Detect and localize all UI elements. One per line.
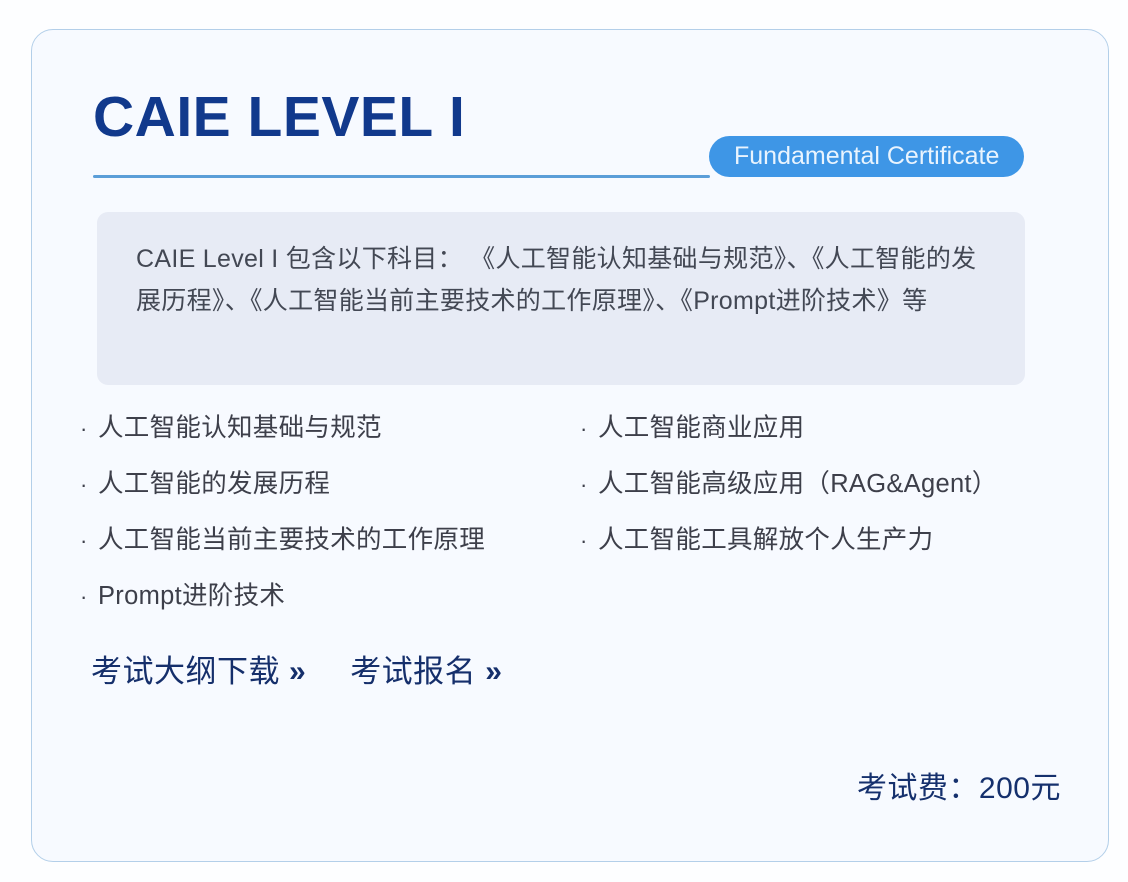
subject-list-right-column: · 人工智能商业应用 · 人工智能高级应用（RAG&Agent） · 人工智能工… — [580, 400, 1080, 568]
bullet-dot-icon: · — [580, 513, 598, 569]
double-chevron-right-icon: » — [289, 655, 306, 689]
title-underline-divider — [93, 175, 710, 178]
status-badge-label: Fundamental Certificate — [734, 144, 999, 169]
bullet-dot-icon: · — [580, 401, 598, 457]
list-item-label: 人工智能工具解放个人生产力 — [598, 512, 933, 568]
bullet-dot-icon: · — [80, 457, 98, 513]
list-item-label: 人工智能当前主要技术的工作原理 — [98, 512, 485, 568]
list-item: · 人工智能的发展历程 — [80, 456, 580, 512]
list-item: · 人工智能商业应用 — [580, 400, 1080, 456]
list-item-label: 人工智能的发展历程 — [98, 456, 330, 512]
certificate-card: CAIE LEVEL I Fundamental Certificate CAI… — [31, 29, 1109, 862]
list-item: · 人工智能工具解放个人生产力 — [580, 512, 1080, 568]
action-link-row: 考试大纲下载 » 考试报名 » — [91, 652, 502, 692]
card-header: CAIE LEVEL I Fundamental Certificate — [32, 30, 1108, 180]
description-text: CAIE Level I 包含以下科目： 《人工智能认知基础与规范》、《人工智能… — [136, 238, 1001, 322]
page-root: CAIE LEVEL I Fundamental Certificate CAI… — [0, 0, 1128, 882]
double-chevron-right-icon: » — [485, 655, 502, 689]
list-item-label: 人工智能认知基础与规范 — [98, 400, 382, 456]
bullet-dot-icon: · — [80, 569, 98, 625]
list-item: · Prompt进阶技术 — [80, 568, 580, 624]
page-title: CAIE LEVEL I — [93, 87, 465, 147]
exam-registration-link[interactable]: 考试报名 » — [350, 652, 502, 692]
list-item: · 人工智能认知基础与规范 — [80, 400, 580, 456]
list-item: · 人工智能当前主要技术的工作原理 — [80, 512, 580, 568]
subject-list-left-column: · 人工智能认知基础与规范 · 人工智能的发展历程 · 人工智能当前主要技术的工… — [80, 400, 580, 624]
bullet-dot-icon: · — [80, 513, 98, 569]
list-item-label: 人工智能高级应用（RAG&Agent） — [598, 456, 998, 512]
exam-fee-text: 考试费：200元 — [857, 770, 1061, 808]
bullet-dot-icon: · — [580, 457, 598, 513]
list-item-label: Prompt进阶技术 — [98, 568, 285, 624]
exam-registration-label: 考试报名 — [350, 652, 476, 692]
list-item-label: 人工智能商业应用 — [598, 400, 804, 456]
description-panel: CAIE Level I 包含以下科目： 《人工智能认知基础与规范》、《人工智能… — [97, 212, 1025, 385]
syllabus-download-label: 考试大纲下载 — [91, 652, 280, 692]
list-item: · 人工智能高级应用（RAG&Agent） — [580, 456, 1080, 512]
bullet-dot-icon: · — [80, 401, 98, 457]
status-badge: Fundamental Certificate — [709, 136, 1024, 177]
syllabus-download-link[interactable]: 考试大纲下载 » — [91, 652, 306, 692]
